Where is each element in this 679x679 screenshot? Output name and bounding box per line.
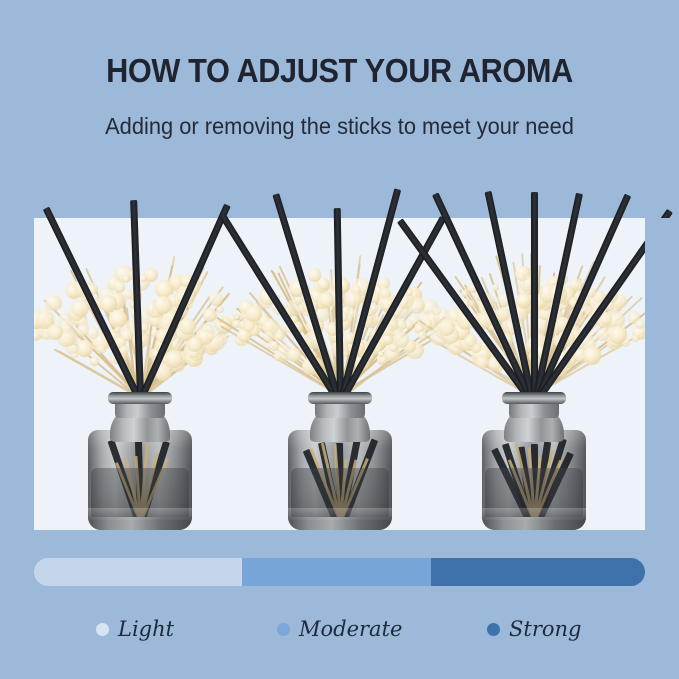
legend-label: Moderate [299,617,402,641]
strength-bar-segment-moderate[interactable] [242,558,431,586]
legend-dot-icon [487,623,500,636]
legend-label: Strong [509,617,581,641]
strength-bar-segment-light[interactable] [34,558,242,586]
panel-right-gutter-mask [645,218,679,530]
legend-item-light[interactable]: Light [96,612,174,646]
strength-bar-segment-strong[interactable] [431,558,645,586]
legend-dot-icon [277,623,290,636]
legend-item-strong[interactable]: Strong [487,612,581,646]
legend-label: Light [118,617,174,641]
strength-bar[interactable] [34,558,645,586]
page-title: HOW TO ADJUST YOUR AROMA [24,52,655,90]
legend-item-moderate[interactable]: Moderate [277,612,402,646]
page-subtitle: Adding or removing the sticks to meet yo… [17,113,662,140]
product-photo-inner [34,218,645,530]
panel-left-gutter-mask [0,218,34,530]
legend-dot-icon [96,623,109,636]
panel-bottom-mask [0,530,679,558]
legend: Light Moderate Strong [34,612,645,646]
product-photo-panel [34,218,645,530]
infographic-page: HOW TO ADJUST YOUR AROMA Adding or remov… [0,0,679,679]
